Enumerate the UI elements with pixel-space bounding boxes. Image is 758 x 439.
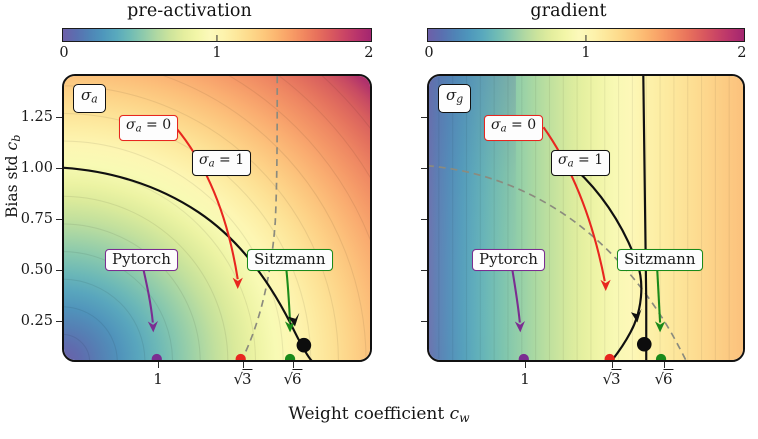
ytick-label-0.75: 0.75 xyxy=(21,211,53,227)
ann-sub: a xyxy=(568,159,574,170)
intersection-marker-left xyxy=(297,338,312,353)
plot-area-gradient: σg xyxy=(427,74,745,362)
xtick-label-1: 1 xyxy=(153,370,163,388)
y-axis-label-subscript: b xyxy=(10,135,23,142)
corner-tag-subscript: a xyxy=(91,93,97,106)
xtick-mark-sqrt3 xyxy=(243,362,244,368)
xtick-label-sqrt6: √6 xyxy=(283,370,302,388)
annotation-pytorch-left: Pytorch xyxy=(105,249,178,271)
colorbar-tick-1: 1 xyxy=(581,43,590,63)
ann-rhs: = 0 xyxy=(146,117,171,133)
ann-rhs: = 1 xyxy=(219,152,244,168)
xtick-mark-1 xyxy=(525,362,526,368)
x-axis-label-subscript: w xyxy=(459,411,469,425)
ytick-label-1.00: 1.00 xyxy=(21,160,53,176)
ann-sub: a xyxy=(209,159,215,170)
ann-sym: σ xyxy=(491,117,501,133)
ann-sub: a xyxy=(501,124,507,135)
colorbar-gradient: 0 1 2 xyxy=(427,28,745,42)
colorbar-tick-2: 2 xyxy=(737,43,746,63)
axes-pre-activation: 1.25 1.00 0.75 0.50 0.25 1 √3 √6 xyxy=(62,74,372,362)
xtick-label-sqrt3: √3 xyxy=(602,370,621,388)
y-axis-label-text: Bias std xyxy=(3,155,21,218)
heatmap-pre-activation xyxy=(62,74,372,362)
x-axis-label: Weight coefficient cw xyxy=(0,404,758,425)
ann-sym: σ xyxy=(126,117,136,133)
colorbar-pre-activation: 0 1 2 xyxy=(62,28,372,42)
annotation-pytorch-right: Pytorch xyxy=(472,249,545,271)
panel-pre-activation: pre-activation 0 1 2 1.25 1.00 0.75 0.50… xyxy=(0,0,379,439)
corner-tag-symbol: σ xyxy=(81,86,91,104)
ytick-label-0.25: 0.25 xyxy=(21,313,53,329)
annotation-sitzmann-left: Sitzmann xyxy=(247,249,333,271)
ann-sub: a xyxy=(136,124,142,135)
xtick-label-sqrt3: √3 xyxy=(233,370,252,388)
xtick-mark-sqrt6 xyxy=(293,362,294,368)
intersection-marker-right xyxy=(637,337,652,352)
ytick-label-1.25: 1.25 xyxy=(21,109,53,125)
colorbar-midtick xyxy=(216,35,217,42)
y-axis-label: Bias std cb xyxy=(3,135,23,218)
panel-title-pre-activation: pre-activation xyxy=(0,1,379,21)
colorbar-tick-0: 0 xyxy=(424,43,433,63)
figure-root: pre-activation 0 1 2 1.25 1.00 0.75 0.50… xyxy=(0,0,758,439)
x-axis-label-symbol: c xyxy=(450,404,460,424)
annotation-sigma-a-equals-1-right: σa = 1 xyxy=(551,150,610,176)
xtick-mark-sqrt6 xyxy=(664,362,665,368)
corner-tag-sigma-g: σg xyxy=(438,84,471,113)
axes-gradient: 1 √3 √6 xyxy=(427,74,745,362)
corner-tag-symbol: σ xyxy=(446,86,456,104)
annotation-sigma-a-equals-1-left: σa = 1 xyxy=(192,150,251,176)
annotation-sigma-a-equals-0-right: σa = 0 xyxy=(484,115,543,141)
y-axis-label-symbol: c xyxy=(3,142,21,151)
xtick-mark-1 xyxy=(158,362,159,368)
annotation-sitzmann-right: Sitzmann xyxy=(617,249,703,271)
colorbar-tick-labels: 0 1 2 xyxy=(427,43,745,63)
ann-rhs: = 0 xyxy=(511,117,536,133)
xtick-label-sqrt6: √6 xyxy=(654,370,673,388)
ann-rhs: = 1 xyxy=(578,152,603,168)
xtick-label-1: 1 xyxy=(520,370,530,388)
colorbar-midtick xyxy=(585,35,586,42)
ann-sym: σ xyxy=(558,152,568,168)
ytick-label-0.50: 0.50 xyxy=(21,262,53,278)
colorbar-tick-1: 1 xyxy=(212,43,221,63)
corner-tag-sigma-a: σa xyxy=(73,84,106,113)
annotation-sigma-a-equals-0-left: σa = 0 xyxy=(119,115,178,141)
colorbar-tick-2: 2 xyxy=(364,43,373,63)
heatmap-gradient xyxy=(427,74,745,362)
plot-area-pre-activation: σa xyxy=(62,74,372,362)
colorbar-tick-labels: 0 1 2 xyxy=(62,43,372,63)
xtick-mark-sqrt3 xyxy=(612,362,613,368)
x-axis-label-text: Weight coefficient xyxy=(288,404,444,424)
panel-title-gradient: gradient xyxy=(379,1,758,21)
ann-sym: σ xyxy=(199,152,209,168)
corner-tag-subscript: g xyxy=(456,93,463,106)
colorbar-tick-0: 0 xyxy=(59,43,68,63)
